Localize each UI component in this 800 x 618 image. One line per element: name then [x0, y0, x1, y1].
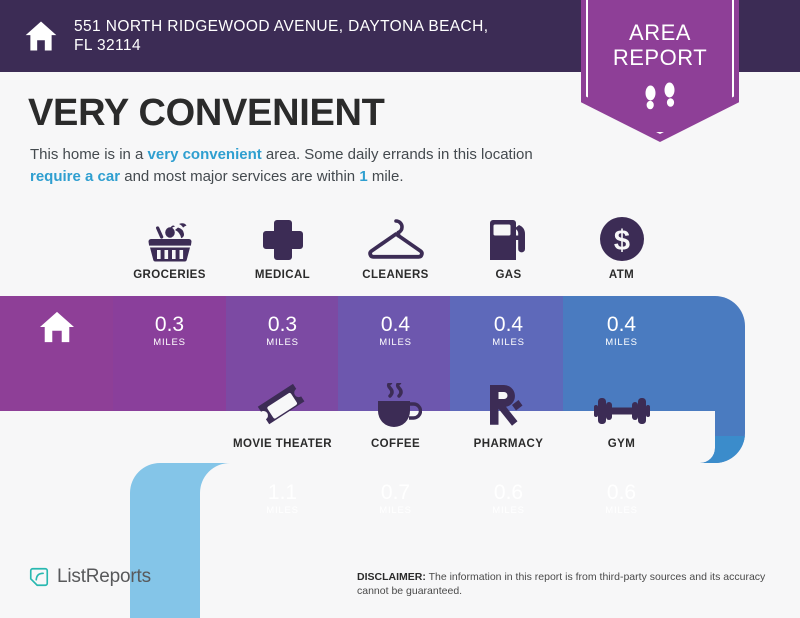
distance-unit: MILES — [452, 505, 565, 516]
distance-unit: MILES — [339, 505, 452, 516]
badge-line-2: REPORT — [581, 45, 739, 70]
distance-unit: MILES — [113, 337, 226, 348]
area-report-badge: AREA REPORT — [581, 0, 739, 142]
distance-unit: MILES — [565, 337, 678, 348]
badge-line-1: AREA — [581, 20, 739, 45]
distance-gas: 0.4 MILES — [452, 313, 565, 348]
category-gas: GAS — [452, 214, 565, 281]
area-report-infographic: 551 NORTH RIDGEWOOD AVENUE, DAYTONA BEAC… — [0, 0, 800, 618]
distance-value: 1.1 — [226, 481, 339, 504]
distance-movie-theater: 1.1 MILES — [226, 481, 339, 516]
distance-value: 0.3 — [226, 313, 339, 336]
svg-text:$: $ — [613, 225, 629, 257]
summary-part-2: area. Some daily errands in this locatio… — [262, 146, 533, 163]
category-row-1: GROCERIES MEDICAL CLEANERS — [0, 214, 800, 288]
category-label: GAS — [452, 269, 565, 281]
grocery-basket-icon — [113, 214, 226, 262]
distance-value: 0.4 — [565, 313, 678, 336]
summary-part-4: mile. — [368, 168, 404, 185]
distance-cleaners: 0.4 MILES — [339, 313, 452, 348]
disclaimer: DISCLAIMER: The information in this repo… — [357, 570, 777, 598]
distance-coffee: 0.7 MILES — [339, 481, 452, 516]
category-label: CLEANERS — [339, 269, 452, 281]
category-groceries: GROCERIES — [113, 214, 226, 281]
home-icon — [24, 19, 58, 53]
category-medical: MEDICAL — [226, 214, 339, 281]
distance-unit: MILES — [452, 337, 565, 348]
distance-unit: MILES — [226, 505, 339, 516]
distance-value: 0.4 — [339, 313, 452, 336]
summary-text: This home is in a very convenient area. … — [30, 144, 570, 188]
distance-values: 0.3 MILES 0.3 MILES 0.4 MILES 0.4 MILES … — [0, 296, 800, 556]
distance-medical: 0.3 MILES — [226, 313, 339, 348]
summary-part-3: and most major services are within — [120, 168, 359, 185]
disclaimer-label: DISCLAIMER: — [357, 571, 426, 583]
distance-value: 0.7 — [339, 481, 452, 504]
distance-groceries: 0.3 MILES — [113, 313, 226, 348]
category-label: GROCERIES — [113, 269, 226, 281]
summary-part-1: This home is in a — [30, 146, 148, 163]
distance-unit: MILES — [565, 505, 678, 516]
summary-highlight-3: 1 — [359, 168, 367, 185]
category-atm: $ ATM — [565, 214, 678, 281]
summary-highlight-2: require a car — [30, 168, 120, 185]
distance-pharmacy: 0.6 MILES — [452, 481, 565, 516]
distance-unit: MILES — [339, 337, 452, 348]
listreports-logo: ListReports — [28, 566, 151, 588]
property-address: 551 NORTH RIDGEWOOD AVENUE, DAYTONA BEAC… — [74, 17, 504, 55]
distance-unit: MILES — [226, 337, 339, 348]
distance-value: 0.4 — [452, 313, 565, 336]
logo-text: ListReports — [57, 566, 151, 588]
clothes-hanger-icon — [339, 214, 452, 262]
gas-pump-icon — [452, 214, 565, 262]
category-label: MEDICAL — [226, 269, 339, 281]
summary-highlight-1: very convenient — [148, 146, 262, 163]
footprints-icon — [640, 82, 682, 116]
category-label: ATM — [565, 269, 678, 281]
listreports-logo-icon — [28, 566, 50, 588]
distance-atm: 0.4 MILES — [565, 313, 678, 348]
distance-value: 0.6 — [565, 481, 678, 504]
distance-value: 0.3 — [113, 313, 226, 336]
category-cleaners: CLEANERS — [339, 214, 452, 281]
distance-gym: 0.6 MILES — [565, 481, 678, 516]
dollar-circle-icon: $ — [565, 214, 678, 262]
medical-cross-icon — [226, 214, 339, 262]
distance-value: 0.6 — [452, 481, 565, 504]
page-title: VERY CONVENIENT — [28, 92, 385, 135]
